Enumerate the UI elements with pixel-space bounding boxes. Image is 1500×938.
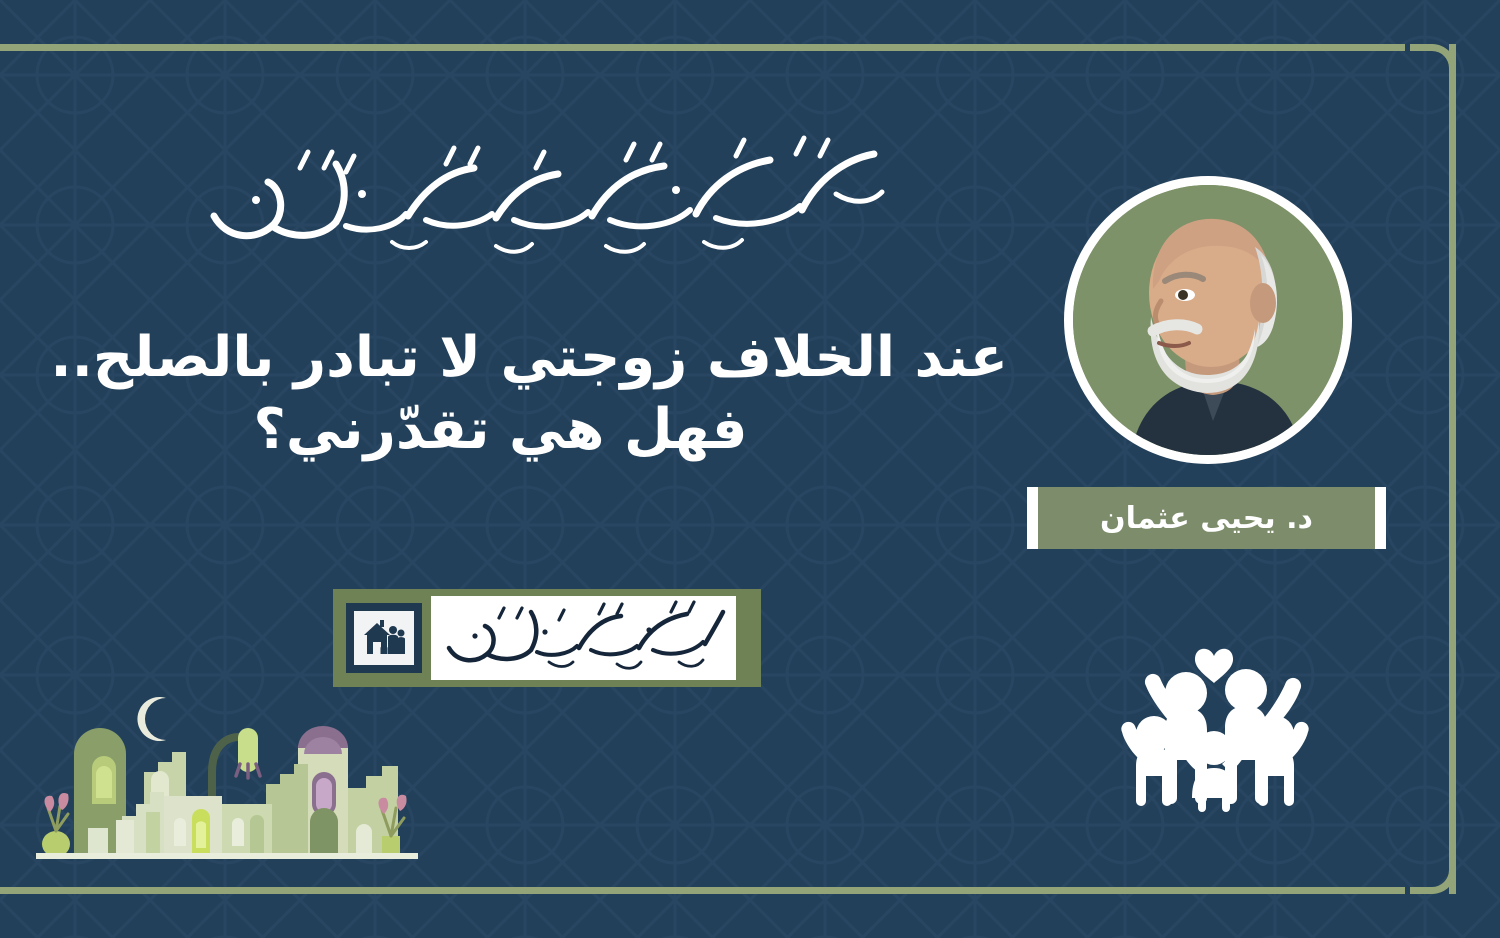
expert-name: د. يحيى عثمان [1100,501,1313,536]
expert-portrait-photo [1073,185,1343,455]
brand-calligraphy [196,130,896,270]
footer: www.istsharat.net [0,778,1500,938]
headline-line-1: عند الخلاف زوجتي لا تبادر بالصلح.. [113,322,1008,394]
frame-right-line [1449,44,1456,894]
frame-corner-top-right [1410,44,1456,90]
headline-line-2: فهل هي تقدّرني؟ [113,394,1008,466]
frame-top-line [0,44,1405,51]
avatar [1064,176,1352,464]
status-badge: د. يحيى عثمان [1027,487,1386,549]
category-bar [333,589,761,687]
poster-canvas: عند الخلاف زوجتي لا تبادر بالصلح.. فهل ه… [0,0,1500,938]
category-calligraphy [439,600,729,676]
crescent-moon-icon [137,697,166,741]
category-label-panel [431,596,736,680]
category-icon-frame [346,603,422,673]
headline: عند الخلاف زوجتي لا تبادر بالصلح.. فهل ه… [113,322,1008,465]
house-family-icon [354,611,414,665]
